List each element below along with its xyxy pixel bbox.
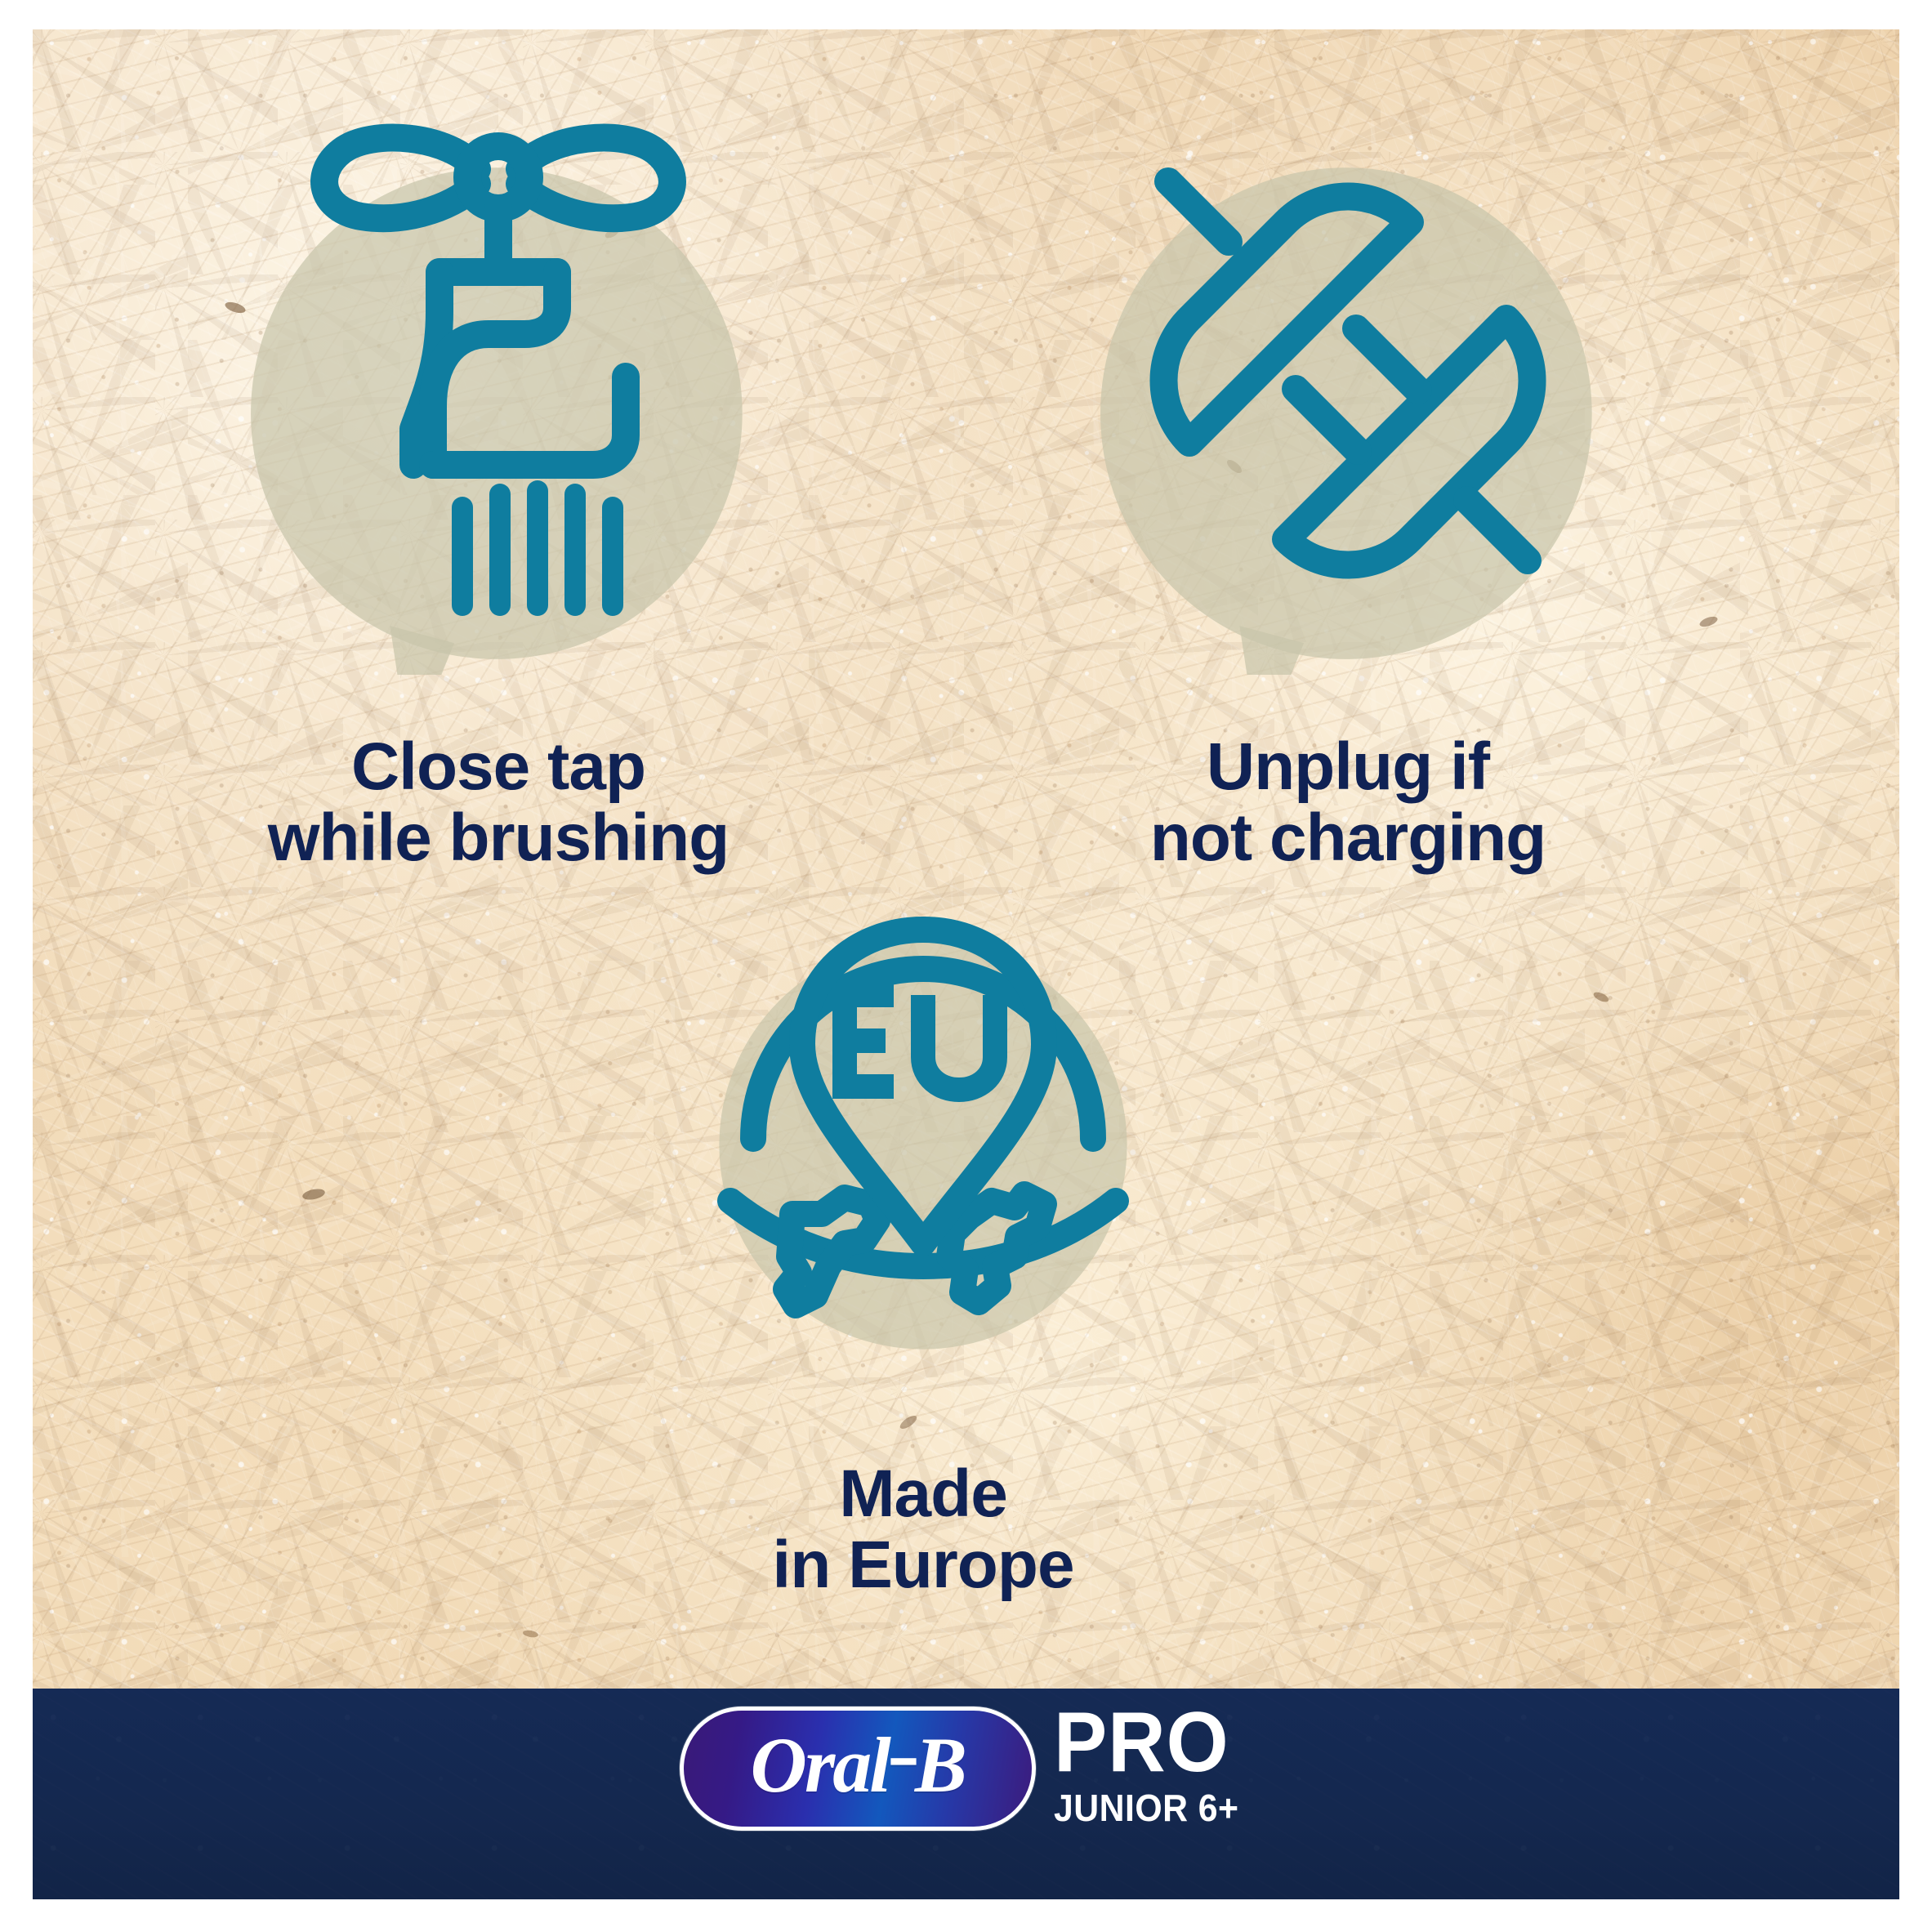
product-line-label: PRO — [1054, 1704, 1229, 1783]
brand-footer-bar: Oral-B PRO JUNIOR 6+ — [33, 1689, 1899, 1899]
eu-globe-pin-icon — [694, 894, 1152, 1384]
feature-close-tap: Close tap while brushing — [196, 78, 801, 912]
feature-unplug: Unplug if not charging — [1046, 78, 1650, 912]
brand-row: Oral-B PRO JUNIOR 6+ — [33, 1707, 1899, 1831]
feature-label-close-tap: Close tap while brushing — [196, 732, 801, 874]
product-feature-poster: Close tap while brushing — [33, 29, 1899, 1899]
oral-b-suffix: B — [915, 1721, 965, 1809]
feature-label-unplug: Unplug if not charging — [1046, 732, 1650, 874]
feature-label-made-in-europe: Made in Europe — [621, 1459, 1225, 1601]
oral-b-dash: - — [887, 1715, 920, 1793]
tap-water-icon — [270, 115, 727, 622]
feature-made-in-europe: Made in Europe — [621, 887, 1225, 1704]
unplugged-plug-icon — [1103, 136, 1593, 626]
product-name-stack: PRO JUNIOR 6+ — [1054, 1704, 1253, 1827]
oral-b-logo: Oral-B — [680, 1707, 1036, 1831]
oral-b-wordmark: Oral-B — [751, 1726, 965, 1805]
oral-b-brand-text: Oral — [751, 1721, 889, 1809]
product-variant-label: JUNIOR 6+ — [1054, 1789, 1238, 1827]
